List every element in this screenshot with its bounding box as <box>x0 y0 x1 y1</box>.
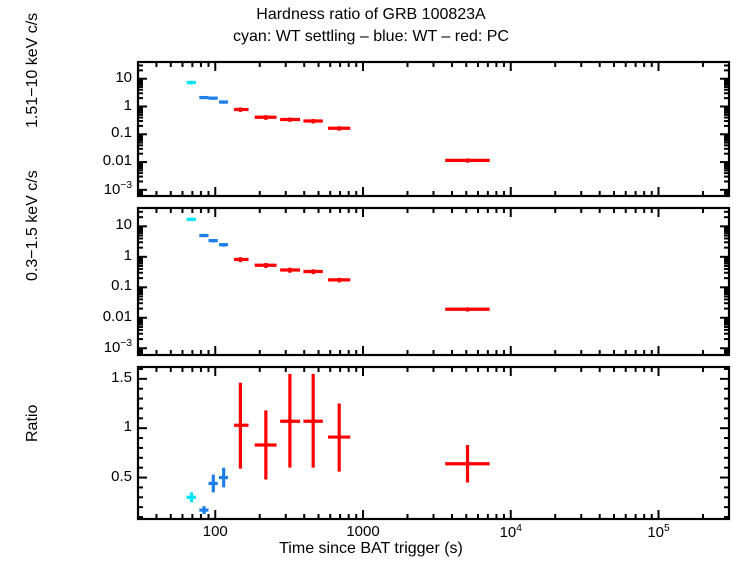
x-tick-label: 1000 <box>318 523 408 540</box>
series-pc-lower <box>234 374 490 483</box>
x-tick-label: 100 <box>170 523 260 540</box>
data-series-group-middle <box>187 218 490 312</box>
y-tick-label: 0.5 <box>40 468 132 485</box>
series-pc-middle <box>234 257 490 311</box>
y-tick-label: 1 <box>40 247 132 264</box>
series-wt-lower <box>199 468 228 514</box>
series-pc-upper <box>234 108 490 163</box>
y-tick-label: 0.01 <box>40 308 132 325</box>
x-tick-label: 104 <box>466 523 556 541</box>
hardness-ratio-figure: Hardness ratio of GRB 100823A cyan: WT s… <box>0 0 742 566</box>
data-series-group-upper <box>187 81 490 163</box>
series-wt-settling-upper <box>187 81 196 85</box>
data-series-group-lower <box>187 374 490 514</box>
y-tick-label: 1 <box>40 97 132 114</box>
series-wt-middle <box>199 234 228 247</box>
y-tick-label: 1 <box>40 418 132 435</box>
y-tick-label: 0.1 <box>40 277 132 294</box>
y-tick-label: 0.01 <box>40 152 132 169</box>
y-tick-label: 10 <box>40 216 132 233</box>
y-tick-label: 10 <box>40 69 132 86</box>
series-wt-upper <box>199 96 228 104</box>
y-tick-label: 10−3 <box>40 180 132 198</box>
panel-frame-middle <box>138 208 729 355</box>
series-wt-settling-lower <box>187 492 196 502</box>
y-tick-label: 0.1 <box>40 124 132 141</box>
series-wt-settling-middle <box>187 218 196 221</box>
x-tick-label: 105 <box>614 523 704 541</box>
y-tick-label: 10−3 <box>40 338 132 356</box>
panel-frame-lower <box>138 367 729 519</box>
y-tick-label: 1.5 <box>40 369 132 386</box>
panel-frame-upper <box>138 62 729 196</box>
